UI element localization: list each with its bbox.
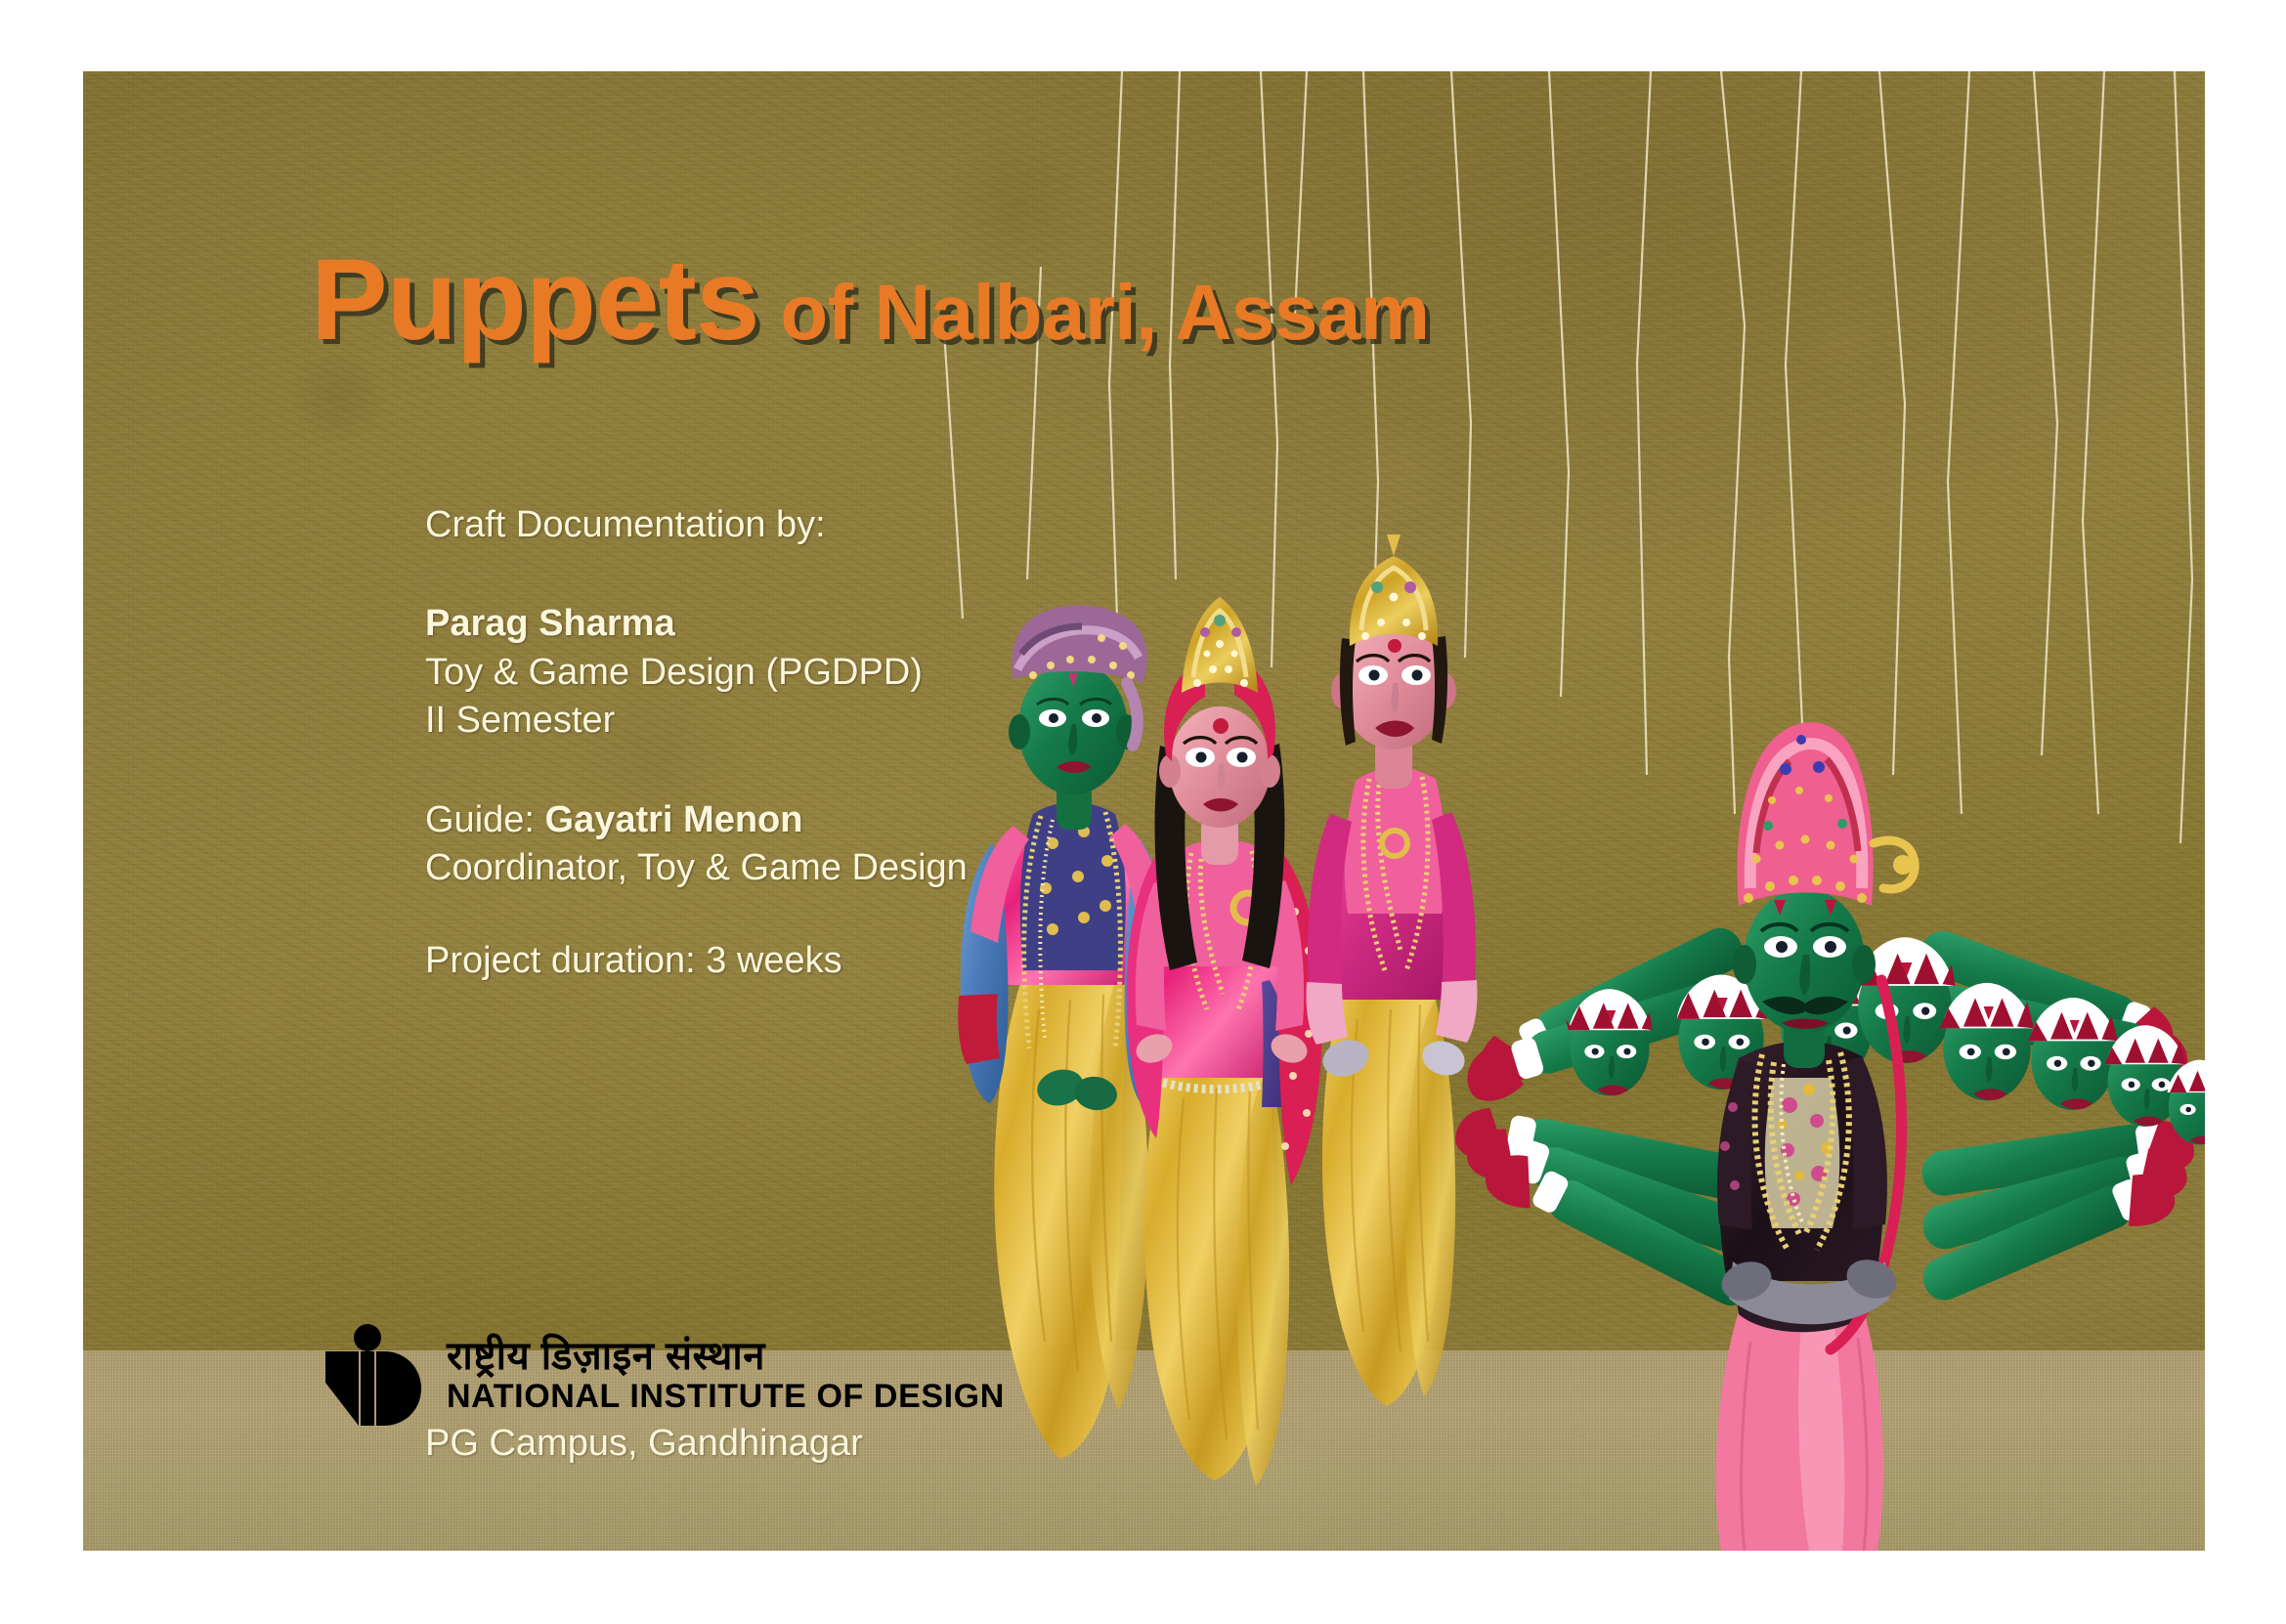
- author-name: Parag Sharma: [425, 600, 968, 648]
- nid-campus-line: PG Campus, Gandhinagar: [425, 1423, 863, 1465]
- credits-spacer-3: [425, 892, 968, 937]
- guide-line: Guide: Gayatri Menon: [425, 796, 968, 844]
- nid-hindi-name: राष्ट्रीय डिज़ाइन संस्थान: [447, 1336, 1005, 1377]
- puppet-pink-queen: [1306, 534, 1477, 1406]
- author-name-text: Parag Sharma: [425, 603, 675, 644]
- credits-block: Craft Documentation by: Parag Sharma Toy…: [425, 501, 968, 986]
- title-main-word: Puppets: [311, 235, 759, 364]
- nid-logo-block: राष्ट्रीय डिज़ाइन संस्थान NATIONAL INSTI…: [325, 1324, 1005, 1433]
- guide-name: Gayatri Menon: [545, 799, 803, 840]
- project-duration: Project duration: 3 weeks: [425, 937, 968, 985]
- guide-label: Guide:: [425, 799, 545, 840]
- credits-spacer-2: [425, 746, 968, 796]
- poster-canvas: Puppets of Nalbari, Assam Craft Document…: [83, 71, 2205, 1551]
- credits-heading: Craft Documentation by:: [425, 501, 968, 549]
- nid-logo-icon: [325, 1324, 423, 1433]
- credits-spacer-1: [425, 549, 968, 600]
- poster-title: Puppets of Nalbari, Assam: [311, 242, 1430, 358]
- puppet-female: [1127, 597, 1322, 1486]
- title-subtitle: of Nalbari, Assam: [759, 269, 1430, 356]
- guide-role: Coordinator, Toy & Game Design: [425, 844, 968, 892]
- nid-english-name: NATIONAL INSTITUTE OF DESIGN: [447, 1379, 1005, 1415]
- puppet-ravana: [1452, 722, 2205, 1551]
- author-program: Toy & Game Design (PGDPD): [425, 649, 968, 697]
- author-semester: II Semester: [425, 697, 968, 745]
